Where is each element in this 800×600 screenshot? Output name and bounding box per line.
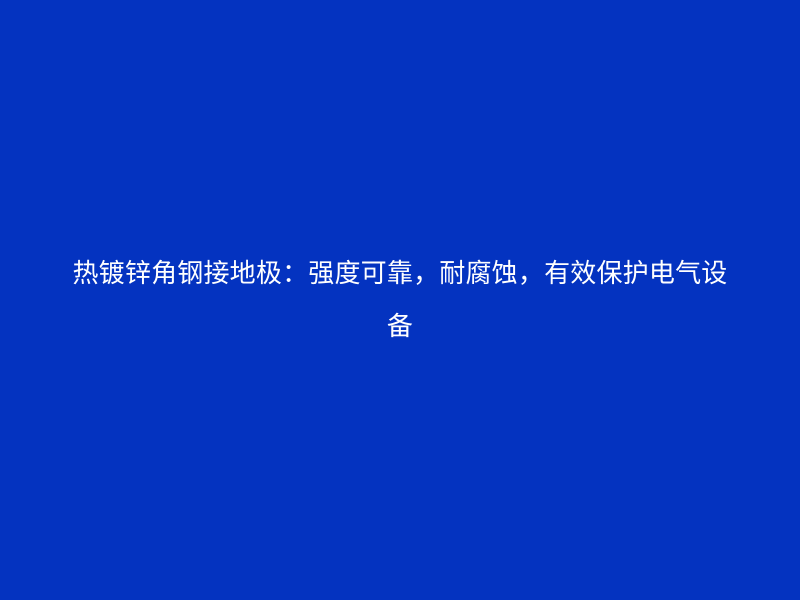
banner-text-block: 热镀锌角钢接地极：强度可靠，耐腐蚀，有效保护电气设备 — [50, 247, 750, 353]
banner-card: 热镀锌角钢接地极：强度可靠，耐腐蚀，有效保护电气设备 — [0, 0, 800, 600]
banner-title: 热镀锌角钢接地极：强度可靠，耐腐蚀，有效保护电气设备 — [60, 247, 740, 353]
